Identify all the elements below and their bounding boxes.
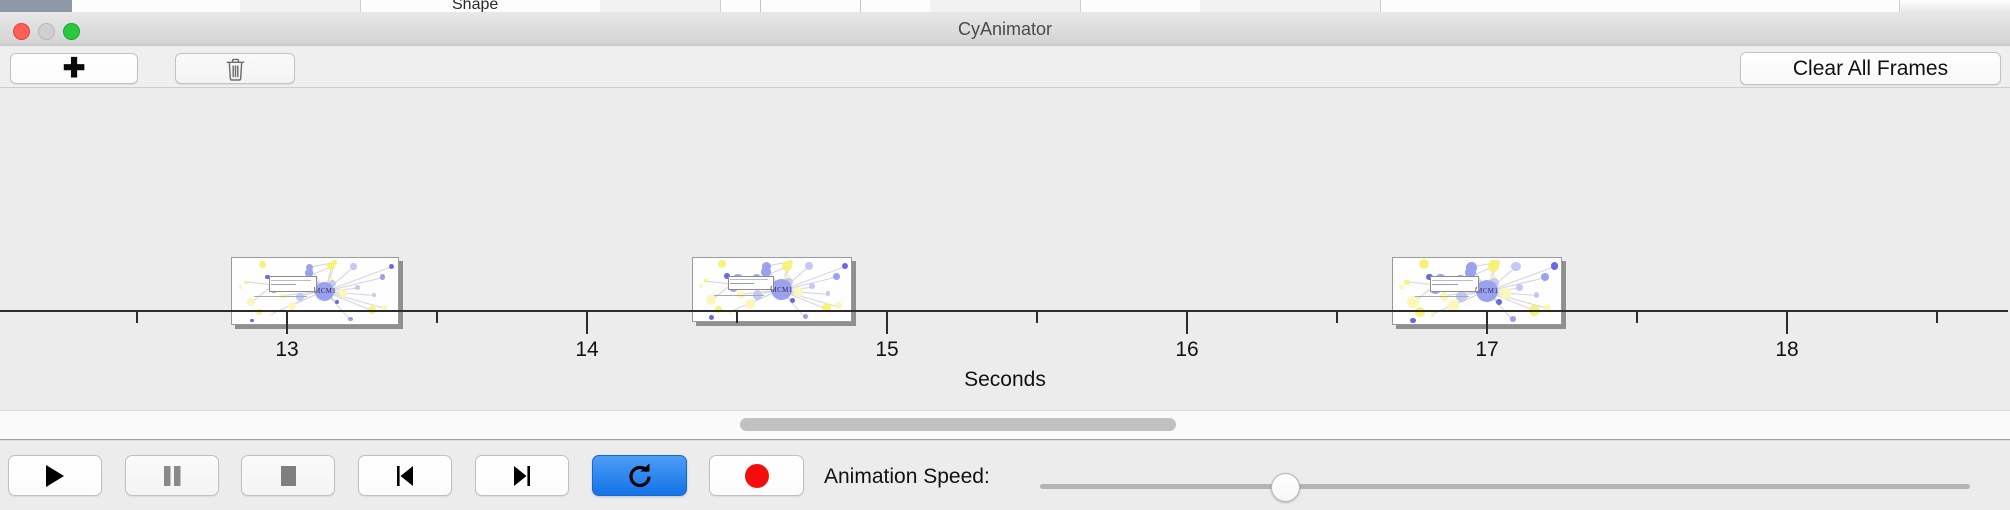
timeline-ruler <box>0 310 2008 312</box>
tick-major <box>586 312 588 334</box>
record-icon <box>745 464 769 488</box>
graph-node <box>327 262 335 270</box>
tick-major <box>1486 312 1488 334</box>
graph-hub-label: MCM1 <box>1476 287 1498 295</box>
graph-node <box>270 313 273 316</box>
graph-tooltip-line <box>730 279 768 280</box>
graph-tooltip-line <box>1432 284 1457 285</box>
graph-node <box>809 283 815 289</box>
tick-minor <box>136 312 138 323</box>
timeline-frame-2[interactable]: MCM1 <box>692 257 852 322</box>
frame-toolbar: ✚ Clear All Frames <box>0 46 2010 88</box>
graph-node <box>1410 318 1416 324</box>
loop-button[interactable] <box>592 455 687 496</box>
stop-button[interactable] <box>241 455 335 496</box>
background-toolbar-chip <box>0 0 72 12</box>
graph-node <box>372 293 376 297</box>
timeline-panel[interactable]: MCM1 MCM1 MCM1 12131415161718 Seconds <box>0 88 2010 411</box>
delete-frame-button[interactable] <box>175 53 295 84</box>
graph-node <box>1431 312 1435 316</box>
background-chip <box>600 0 721 12</box>
graph-node <box>250 319 254 323</box>
add-frame-button[interactable]: ✚ <box>10 53 138 84</box>
skip-back-icon <box>392 462 418 490</box>
tick-major <box>1186 312 1188 334</box>
title-bar[interactable]: CyAnimator <box>0 12 2010 47</box>
graph-node <box>348 317 352 321</box>
graph-tooltip-line <box>271 284 296 285</box>
graph-tooltip-line <box>1432 280 1472 281</box>
pause-button[interactable] <box>125 455 219 496</box>
graph-node <box>835 302 842 309</box>
pause-icon <box>159 462 185 490</box>
tick-minor <box>1036 312 1038 323</box>
graph-node <box>259 261 266 268</box>
record-button[interactable] <box>709 455 804 496</box>
graph-node <box>380 274 386 280</box>
graph-node <box>1534 292 1540 298</box>
skip-forward-icon <box>509 462 535 490</box>
graph-hub-label: MCM1 <box>314 287 336 295</box>
background-corner <box>1899 0 2010 12</box>
background-divider <box>860 0 861 12</box>
background-chip <box>1200 0 1381 12</box>
tick-minor <box>1936 312 1938 323</box>
tick-minor <box>1636 312 1638 323</box>
graph-node <box>704 279 708 283</box>
graph-node <box>709 315 714 320</box>
tick-label: 16 <box>1175 338 1198 362</box>
loop-icon <box>625 461 655 491</box>
graph-caption-line <box>254 296 307 297</box>
graph-node <box>247 298 255 306</box>
background-divider <box>760 0 761 12</box>
trash-icon <box>225 57 246 81</box>
tick-label: 15 <box>875 338 898 362</box>
graph-node <box>1496 299 1502 305</box>
graph-node <box>1516 284 1523 291</box>
timeline-frame-3[interactable]: MCM1 <box>1392 257 1562 325</box>
graph-node <box>790 298 795 303</box>
graph-caption-line <box>1415 296 1469 297</box>
graph-node <box>1404 280 1409 285</box>
plus-icon: ✚ <box>63 55 86 82</box>
tick-major <box>286 312 288 334</box>
graph-tooltip-line <box>271 280 311 281</box>
play-icon <box>42 462 68 490</box>
graph-node <box>389 264 394 269</box>
tick-label: 13 <box>275 338 298 362</box>
graph-caption-line <box>714 295 765 296</box>
graph-node <box>833 273 840 280</box>
window-title: CyAnimator <box>0 12 2010 46</box>
play-button[interactable] <box>8 455 102 496</box>
graph-node <box>699 284 703 288</box>
graph-node <box>1399 285 1404 290</box>
graph-node <box>1541 273 1549 281</box>
graph-node <box>335 300 339 304</box>
background-chip <box>240 0 361 12</box>
graph-node <box>1419 259 1429 269</box>
graph-node <box>1551 262 1558 269</box>
graph-tooltip-line <box>730 283 754 284</box>
graph-node <box>350 263 356 269</box>
graph-node <box>1510 316 1516 322</box>
graph-node <box>355 285 360 290</box>
tick-minor <box>436 312 438 323</box>
tick-major <box>886 312 888 334</box>
graph-node <box>803 314 808 319</box>
graph-node <box>288 302 296 310</box>
graph-node <box>794 287 804 297</box>
graph-node <box>805 262 813 270</box>
timeline-scrollbar[interactable] <box>0 411 2010 440</box>
tick-minor <box>1336 312 1338 323</box>
graph-node <box>826 291 831 296</box>
animation-speed-thumb[interactable] <box>1271 473 1300 502</box>
graph-node <box>239 285 242 288</box>
graph-node <box>745 299 755 309</box>
graph-node <box>718 260 727 269</box>
graph-node <box>782 261 792 271</box>
axis-title: Seconds <box>0 368 2010 392</box>
stop-icon <box>275 462 301 490</box>
graph-node <box>244 281 248 285</box>
tick-label: 18 <box>1775 338 1798 362</box>
animation-speed-slider[interactable] <box>1040 484 1970 489</box>
network-thumbnail: MCM1 <box>232 258 398 324</box>
graph-node <box>1407 296 1419 308</box>
animation-speed-label: Animation Speed: <box>824 465 990 489</box>
graph-node <box>842 263 848 269</box>
graph-node <box>1488 260 1500 272</box>
tick-minor <box>736 312 738 323</box>
graph-node <box>305 269 313 277</box>
skip-start-button[interactable] <box>358 455 452 496</box>
cyanimator-window: Shape CyAnimator ✚ Clear All Frames MCM1 <box>0 0 2010 510</box>
tick-label: 17 <box>1475 338 1498 362</box>
network-thumbnail: MCM1 <box>1393 258 1561 324</box>
graph-node <box>1511 262 1520 271</box>
timeline-frame-1[interactable]: MCM1 <box>231 257 399 325</box>
tick-major <box>1786 312 1788 334</box>
graph-node <box>706 295 716 305</box>
graph-node <box>1500 288 1512 300</box>
scrollbar-thumb[interactable] <box>740 418 1176 431</box>
transport-bar: Animation Speed: <box>0 440 2010 510</box>
skip-end-button[interactable] <box>475 455 569 496</box>
background-chip <box>930 0 1081 12</box>
clear-all-frames-button[interactable]: Clear All Frames <box>1740 52 2001 85</box>
tick-label: 14 <box>575 338 598 362</box>
